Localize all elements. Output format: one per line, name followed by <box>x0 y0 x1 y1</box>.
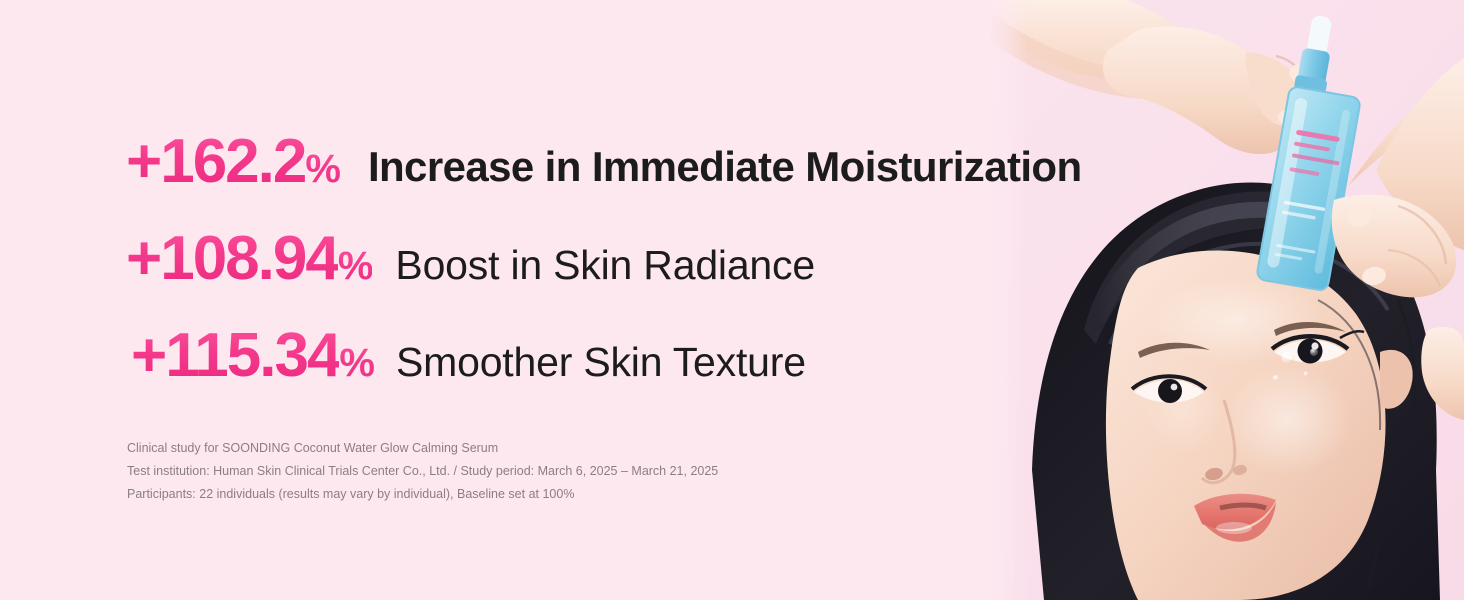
footnote-line: Clinical study for SOONDING Coconut Wate… <box>127 437 887 460</box>
stat-label: Increase in Immediate Moisturization <box>368 145 1082 189</box>
stat-value: +115.34 <box>131 325 339 387</box>
stat-value: +108.94 <box>126 228 338 290</box>
stat-percent-sign: % <box>305 149 340 189</box>
stat-label: Boost in Skin Radiance <box>395 243 815 287</box>
stat-row: +115.34 % Smoother Skin Texture <box>131 325 806 387</box>
footnote-line: Participants: 22 individuals (results ma… <box>127 483 887 506</box>
stat-percent-sign: % <box>339 343 374 383</box>
stat-label: Smoother Skin Texture <box>396 340 806 384</box>
stat-percent-sign: % <box>338 246 373 286</box>
stat-row: +162.2 % Increase in Immediate Moisturiz… <box>126 131 1082 193</box>
stats-list: +162.2 % Increase in Immediate Moisturiz… <box>0 0 1120 600</box>
footnote-line: Test institution: Human Skin Clinical Tr… <box>127 460 887 483</box>
stat-row: +108.94 % Boost in Skin Radiance <box>126 228 815 290</box>
stat-value: +162.2 <box>126 131 305 193</box>
clinical-study-footnotes: Clinical study for SOONDING Coconut Wate… <box>127 437 887 506</box>
promo-banner: +162.2 % Increase in Immediate Moisturiz… <box>0 0 1464 600</box>
